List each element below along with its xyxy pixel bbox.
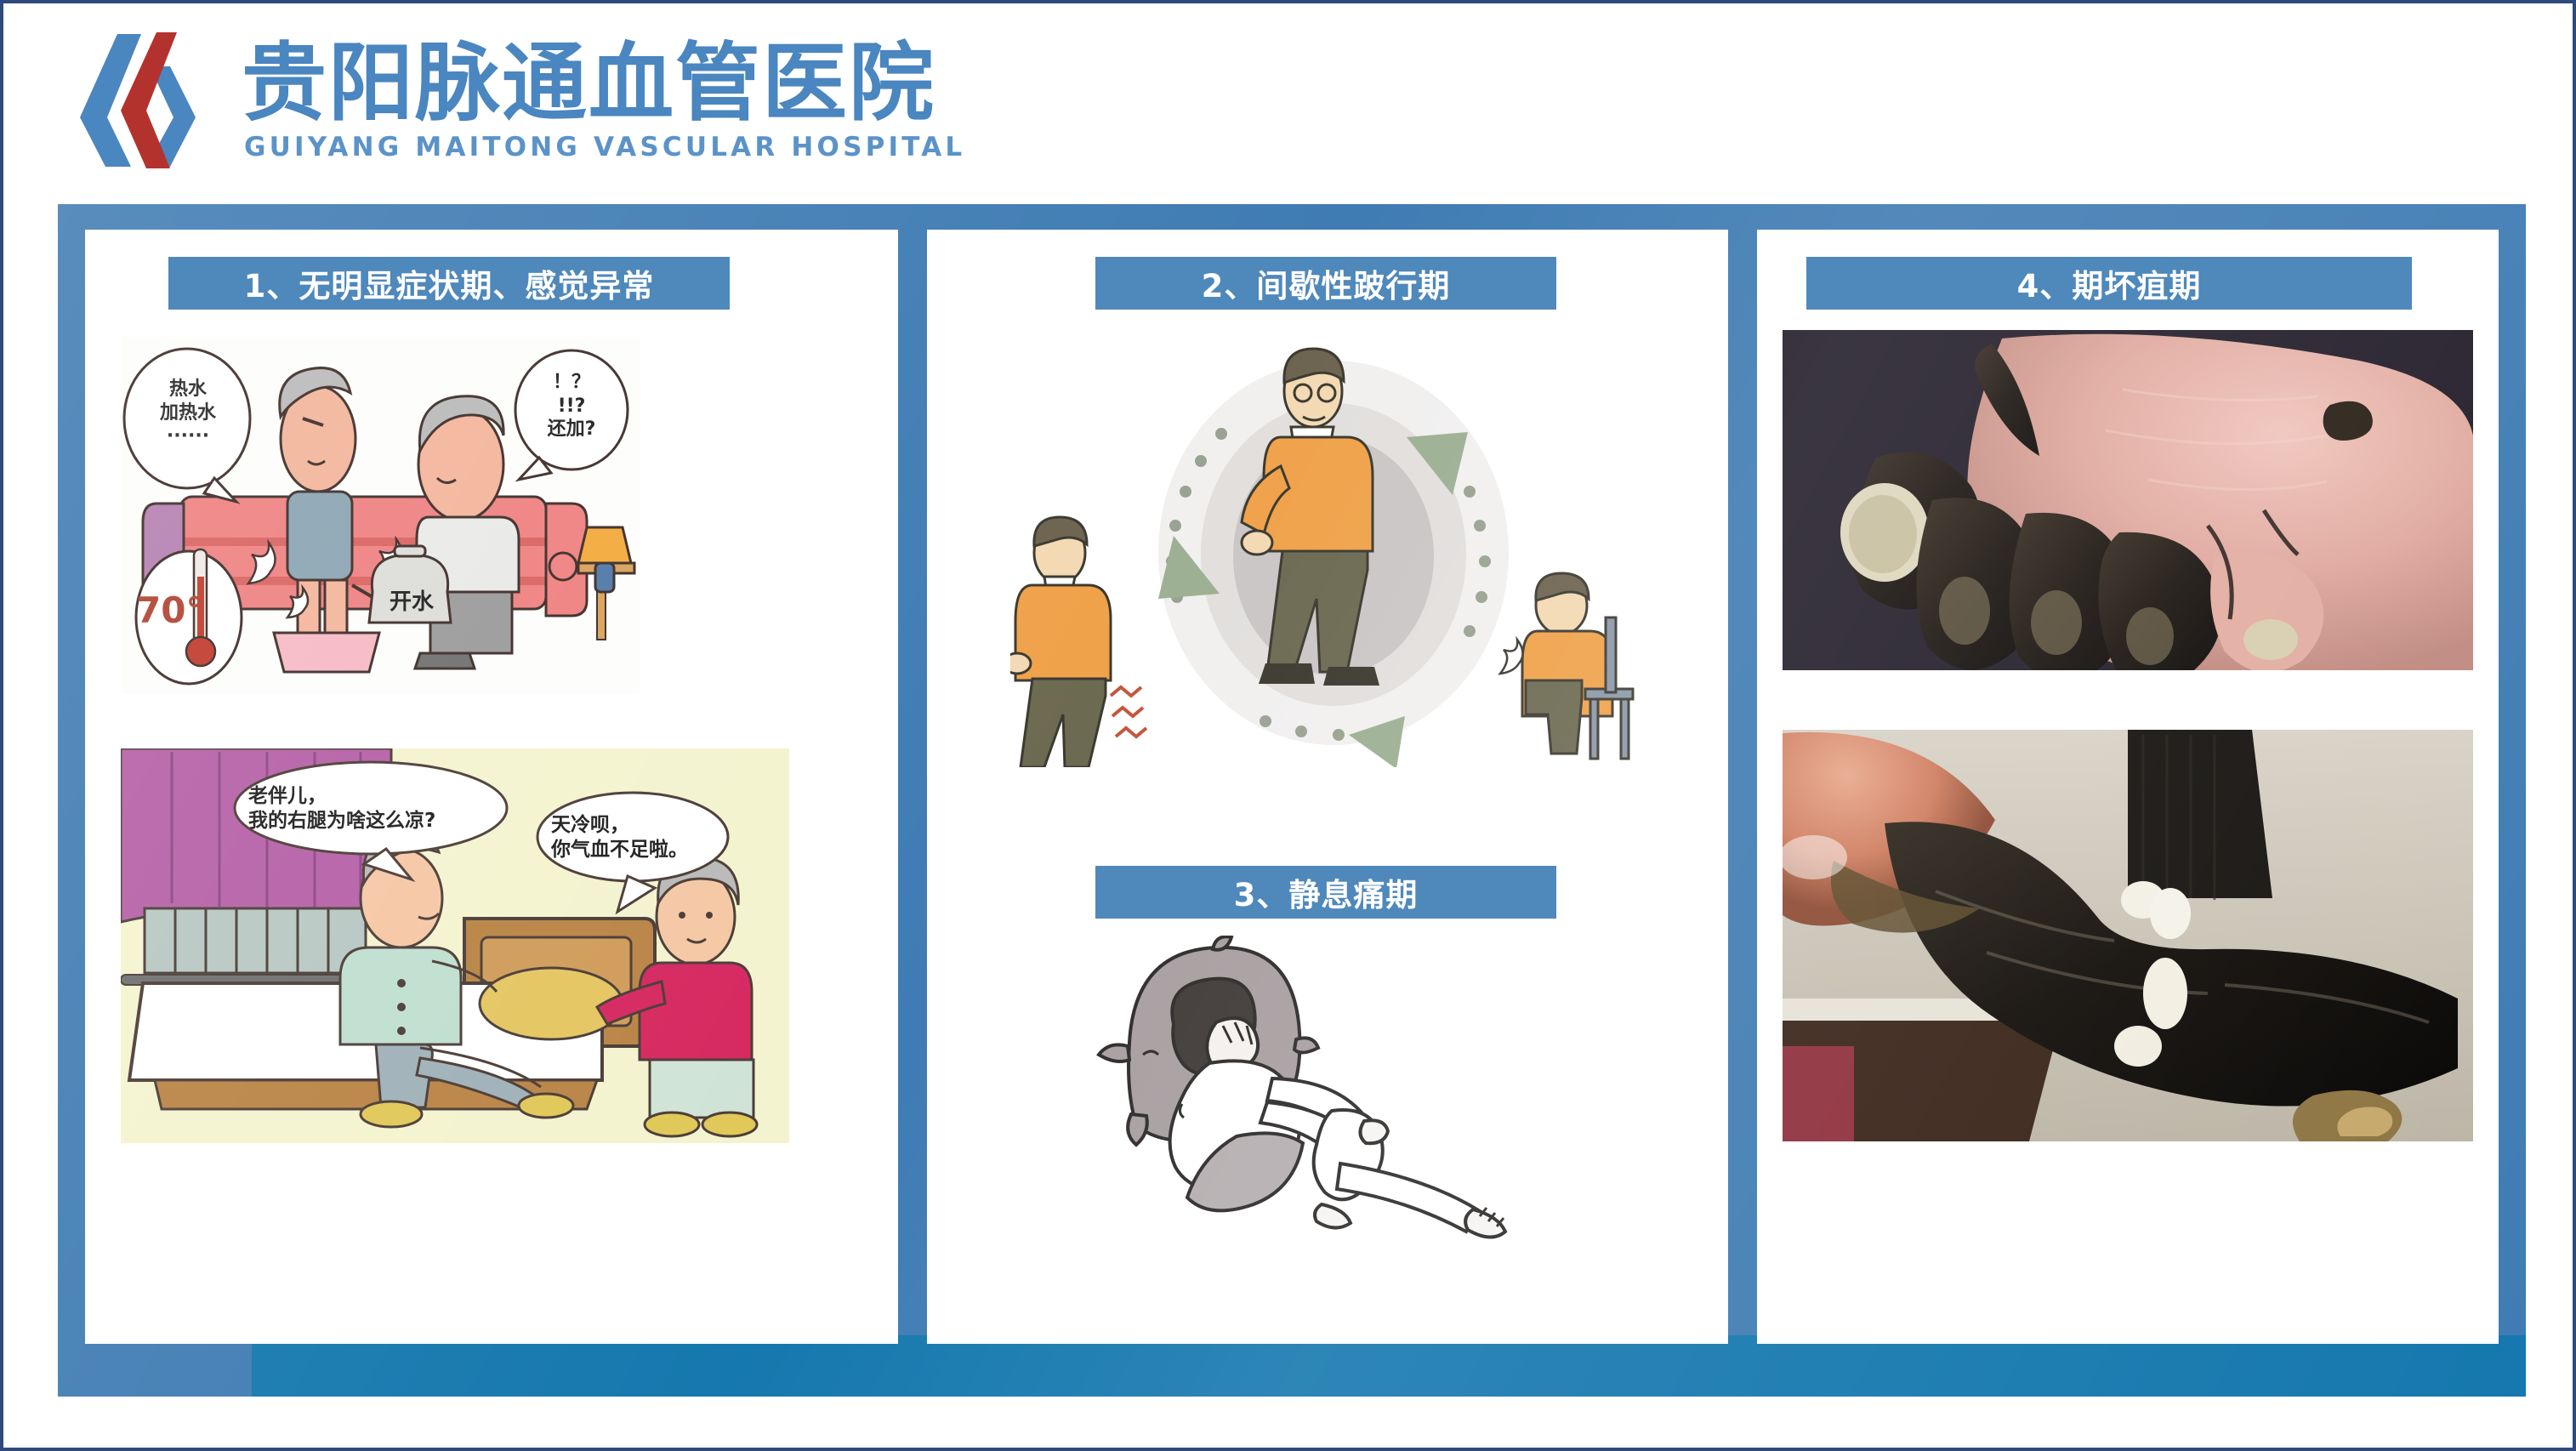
poster-page: 贵阳脉通血管医院 GUIYANG MAITONG VASCULAR HOSPIT… bbox=[0, 0, 2576, 1451]
illustration-foot-soak: 热水 加热水 ······ ！？ !!? 还加? 70° 开水 bbox=[121, 337, 640, 694]
stage-columns: 1、无明显症状期、感觉异常 bbox=[85, 230, 2499, 1344]
hospital-logo-icon bbox=[68, 29, 219, 172]
stage-header-2: 2、间歇性跛行期 bbox=[1095, 257, 1556, 310]
stage-card-1: 1、无明显症状期、感觉异常 bbox=[85, 230, 898, 1344]
brand-name-cn: 贵阳脉通血管医院 bbox=[242, 38, 965, 128]
brand-header: 贵阳脉通血管医院 GUIYANG MAITONG VASCULAR HOSPIT… bbox=[3, 3, 2573, 197]
photo-gangrene-foot bbox=[1783, 730, 2473, 1141]
illustration-rest-pain bbox=[1055, 936, 1565, 1267]
content-board: 1、无明显症状期、感觉异常 bbox=[58, 204, 2526, 1397]
brand-wordmark: 贵阳脉通血管医院 GUIYANG MAITONG VASCULAR HOSPIT… bbox=[242, 38, 965, 162]
illustration-claudication bbox=[1010, 342, 1640, 767]
stage-header-1: 1、无明显症状期、感觉异常 bbox=[168, 257, 730, 310]
stage-header-3: 3、静息痛期 bbox=[1095, 866, 1556, 919]
stage-card-4: 4、期坏疽期 bbox=[1757, 230, 2499, 1344]
illustration-bedroom: 老伴儿， 我的右腿为啥这么凉? 天冷呗， 你气血不足啦。 bbox=[121, 748, 789, 1143]
photo-gangrene-toes bbox=[1783, 330, 2473, 670]
stage-header-4: 4、期坏疽期 bbox=[1806, 257, 2412, 310]
brand-name-en: GUIYANG MAITONG VASCULAR HOSPITAL bbox=[244, 132, 965, 162]
stage-card-2-3: 2、间歇性跛行期 bbox=[927, 230, 1728, 1344]
board-bottom-bar bbox=[252, 1335, 2526, 1397]
